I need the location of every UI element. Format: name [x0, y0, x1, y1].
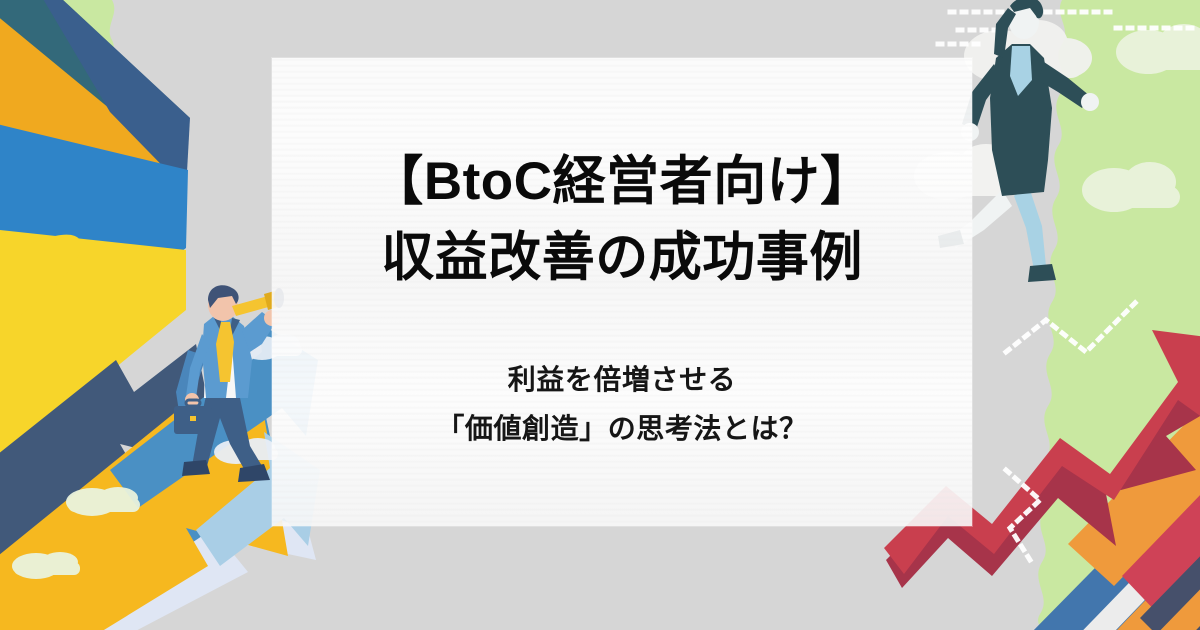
- woman-front-hand: [1081, 93, 1099, 111]
- page-title: 【BtoC経営者向け】 収益改善の成功事例: [272, 144, 972, 296]
- poster-canvas: 【BtoC経営者向け】 収益改善の成功事例 利益を倍増させる 「価値創造」の思考…: [0, 0, 1200, 630]
- woman-front-shoe: [1028, 264, 1056, 282]
- subtitle-line-2: 「価値創造」の思考法とは？: [272, 404, 972, 453]
- briefcase-latch: [190, 416, 196, 421]
- page-subtitle: 利益を倍増させる 「価値創造」の思考法とは？: [272, 355, 972, 453]
- businessman-shoe-back: [182, 460, 210, 476]
- cloud-bottom-left-2: [12, 552, 80, 579]
- title-line-1: 【BtoC経営者向け】: [272, 144, 972, 220]
- title-line-2: 収益改善の成功事例: [272, 220, 972, 296]
- subtitle-line-1: 利益を倍増させる: [272, 355, 972, 404]
- cloud-bottom-left-green: [66, 487, 140, 516]
- content-panel: 【BtoC経営者向け】 収益改善の成功事例 利益を倍増させる 「価値創造」の思考…: [272, 58, 972, 526]
